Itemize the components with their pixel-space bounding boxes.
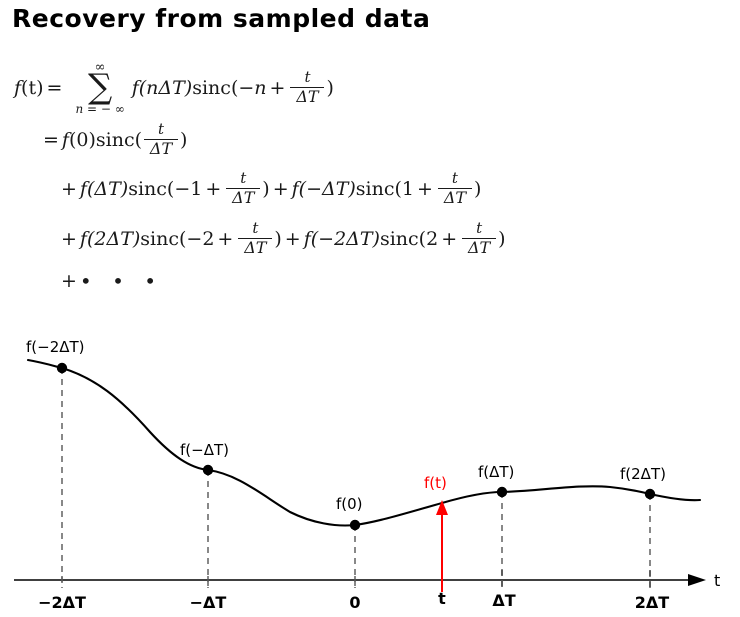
equation-line-3: + f (ΔT) sinc( −1 + t ΔT ) + f (−ΔT) sin…: [58, 164, 614, 214]
eq4-join-plus: +: [282, 228, 304, 250]
point-label-f-zero: f(0): [336, 495, 363, 513]
eq4-term1-fraction: t ΔT: [238, 221, 272, 257]
eq1-inner-sign: −: [238, 77, 254, 99]
eq3-term1-arg: (ΔT): [87, 178, 128, 200]
signal-curve: [28, 360, 700, 525]
eq3-term2-frac-denominator: ΔT: [441, 189, 469, 207]
tick-label-zero: 0: [349, 593, 360, 612]
eq2-term-f: f: [62, 129, 69, 151]
eq1-sinc: sinc(: [192, 77, 238, 99]
eq2-close-paren: ): [180, 129, 187, 151]
eq4-term2-fraction: t ΔT: [462, 221, 496, 257]
tick-label-minus-dt: −ΔT: [190, 593, 227, 612]
sample-dot-dt: [497, 487, 507, 497]
eq3-term1-plus: +: [202, 178, 224, 200]
eq2-term-arg: (0): [69, 129, 96, 151]
eq4-term2-f: f: [304, 228, 311, 250]
eq1-fraction: t ΔT: [290, 70, 324, 106]
eq4-term1-frac-denominator: ΔT: [241, 239, 269, 257]
t-axis-label: t: [714, 571, 720, 590]
eq4-term2-close: ): [498, 228, 505, 250]
t-axis-arrow-icon: [688, 574, 706, 586]
eq2-fraction: t ΔT: [144, 122, 178, 158]
point-label-f-2dt: f(2ΔT): [620, 465, 666, 483]
eq3-lead-plus: +: [58, 178, 80, 200]
eq3-term1-index: −1: [174, 178, 202, 200]
eq4-term2-index: 2: [426, 228, 438, 250]
eq3-term2-f: f: [292, 178, 299, 200]
point-label-f-t: f(t): [424, 474, 447, 492]
sample-dot-2dt: [645, 489, 655, 499]
equation-block: f (t) = ∞ ∑ n = − ∞ f (nΔT) sinc( − n + …: [14, 60, 614, 298]
eq4-lead-plus: +: [58, 228, 80, 250]
eq3-term1-f: f: [80, 178, 87, 200]
equation-line-1: f (t) = ∞ ∑ n = − ∞ f (nΔT) sinc( − n + …: [14, 60, 614, 116]
eq1-inner-index: n: [254, 77, 266, 99]
eq1-lhs-f: f: [14, 77, 21, 99]
sample-dot-minus-dt: [203, 465, 213, 475]
eq1-plus: +: [267, 77, 289, 99]
eq3-term2-arg: (−ΔT): [299, 178, 356, 200]
eq1-equals: =: [44, 77, 66, 99]
eq3-term1-frac-numerator: t: [237, 171, 249, 188]
eq4-term2-plus: +: [438, 228, 460, 250]
eq3-term1-close: ): [262, 178, 269, 200]
signal-reconstruction-graph: t f(−2ΔT) f(−ΔT) f(0) f(t) f(ΔT) f(2ΔT): [0, 325, 740, 617]
eq3-join-plus: +: [270, 178, 292, 200]
equation-line-2: = f (0) sinc( t ΔT ): [40, 116, 614, 164]
eq1-frac-numerator: t: [301, 70, 313, 87]
tick-label-minus-2dt: −2ΔT: [38, 593, 86, 612]
tick-label-dt: ΔT: [492, 591, 515, 610]
eq3-term2-frac-numerator: t: [449, 171, 461, 188]
eq5-ellipsis: • • •: [80, 269, 163, 293]
sum-sigma-icon: ∑: [88, 72, 112, 103]
tick-label-t: t: [438, 589, 446, 608]
eq3-term1-frac-denominator: ΔT: [229, 189, 257, 207]
eq3-term2-plus: +: [414, 178, 436, 200]
point-label-f-minus-2dt: f(−2ΔT): [26, 338, 85, 356]
eq3-term2-sinc: sinc(: [356, 178, 402, 200]
sample-dot-zero: [350, 520, 360, 530]
eq4-term1-index: −2: [186, 228, 214, 250]
eq4-term1-frac-numerator: t: [249, 221, 261, 238]
eq4-term2-arg: (−2ΔT): [311, 228, 380, 250]
eq3-term1-sinc: sinc(: [128, 178, 174, 200]
point-label-f-minus-dt: f(−ΔT): [180, 441, 229, 459]
eq4-term1-sinc: sinc(: [140, 228, 186, 250]
sum-lower-limit: n = − ∞: [75, 103, 124, 115]
eq5-lead-plus: +: [58, 270, 80, 292]
eq3-term2-fraction: t ΔT: [438, 171, 472, 207]
eq2-frac-denominator: ΔT: [147, 140, 175, 158]
eq4-term2-frac-denominator: ΔT: [465, 239, 493, 257]
eq1-frac-denominator: ΔT: [293, 88, 321, 106]
eq4-term2-sinc: sinc(: [380, 228, 426, 250]
eq1-term-f: f: [132, 77, 139, 99]
equation-line-5: + • • •: [58, 264, 614, 298]
eq4-term1-f: f: [80, 228, 87, 250]
tick-label-2dt: 2ΔT: [635, 593, 670, 612]
eq1-close-paren: ): [326, 77, 333, 99]
eq4-term2-frac-numerator: t: [473, 221, 485, 238]
equation-line-4: + f (2ΔT) sinc( −2 + t ΔT ) + f (−2ΔT) s…: [58, 214, 614, 264]
summation-operator: ∞ ∑ n = − ∞: [75, 61, 124, 115]
eq2-sinc: sinc(: [96, 129, 142, 151]
page-title: Recovery from sampled data: [12, 4, 430, 33]
eq1-lhs-arg: (t): [21, 77, 43, 99]
eq4-term1-plus: +: [214, 228, 236, 250]
eq1-term-arg: (nΔT): [139, 77, 192, 99]
eq4-term1-arg: (2ΔT): [87, 228, 140, 250]
eq3-term1-fraction: t ΔT: [226, 171, 260, 207]
sample-dot-minus-2dt: [57, 363, 67, 373]
eq4-term1-close: ): [274, 228, 281, 250]
point-label-f-dt: f(ΔT): [478, 463, 514, 481]
eq2-frac-numerator: t: [155, 122, 167, 139]
eq3-term2-index: 1: [402, 178, 414, 200]
eq2-equals: =: [40, 129, 62, 151]
eq3-term2-close: ): [474, 178, 481, 200]
